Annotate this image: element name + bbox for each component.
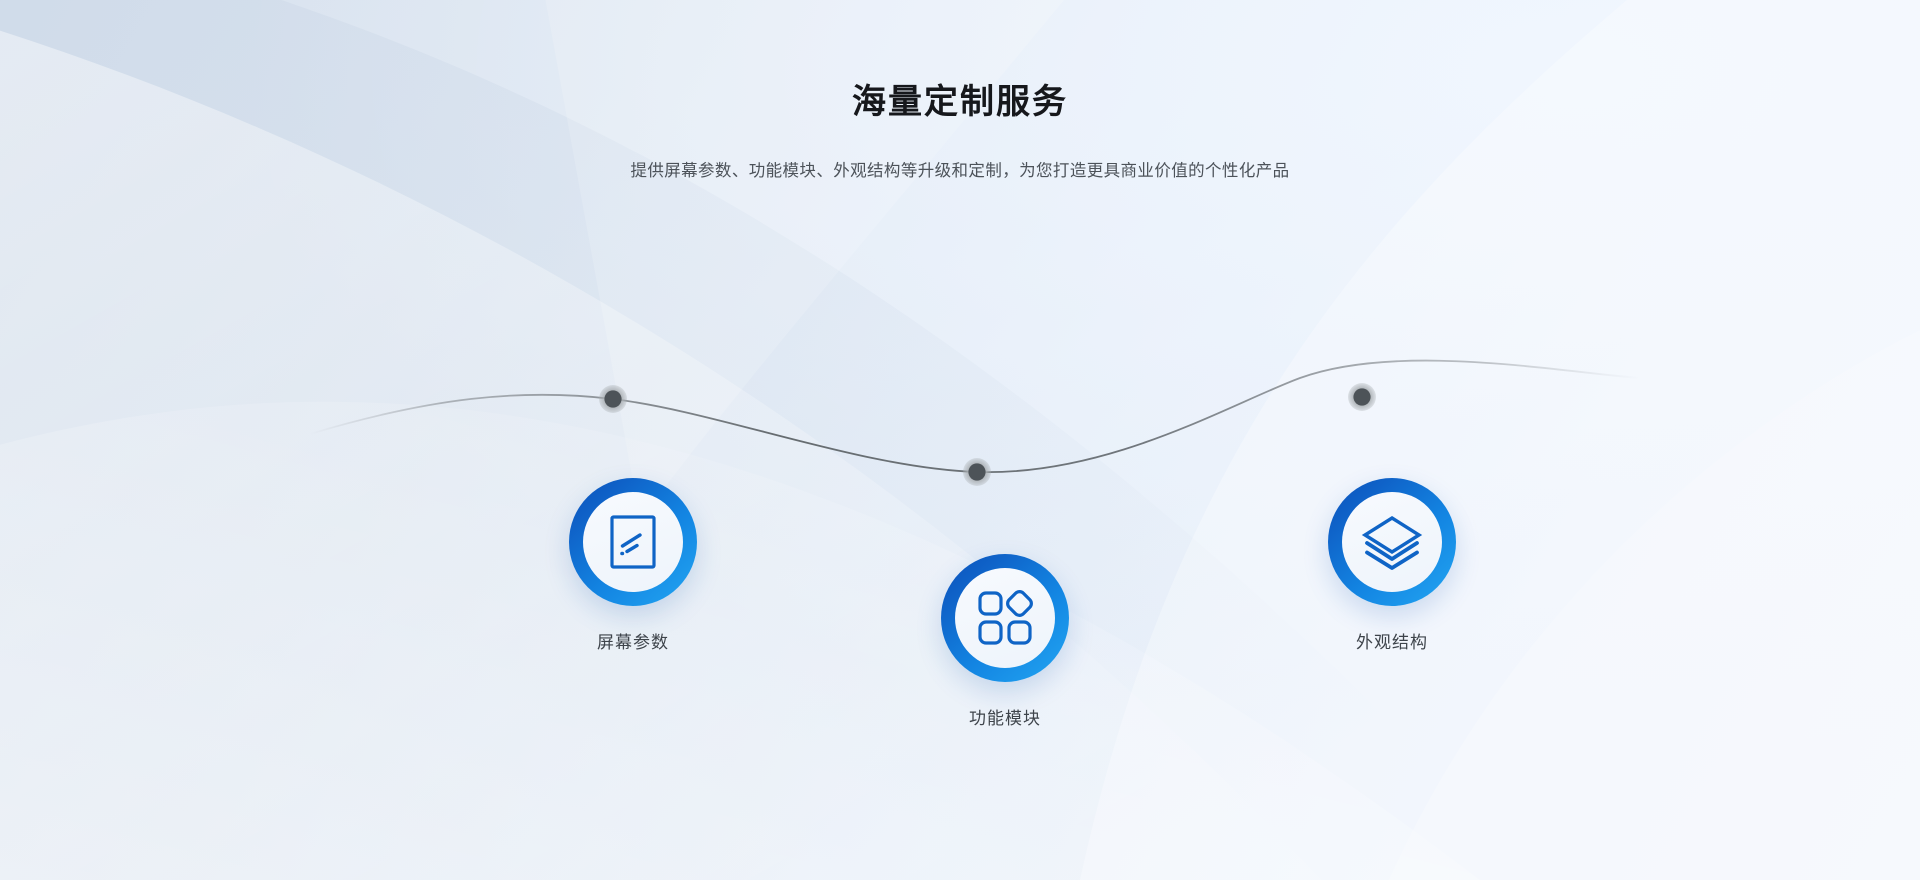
feature-node-label: 功能模块 [875, 704, 1135, 729]
layers-stack-icon [1328, 478, 1456, 606]
feature-node-label: 屏幕参数 [503, 628, 763, 653]
function-modules-icon [941, 554, 1069, 682]
feature-node-label: 外观结构 [1262, 628, 1522, 653]
icon-badge[interactable] [1328, 478, 1456, 606]
feature-node-function-modules[interactable]: 功能模块 [875, 554, 1135, 729]
icon-badge[interactable] [569, 478, 697, 606]
feature-node-list: 屏幕参数 功能模块 [0, 0, 1920, 880]
screen-parameters-icon [569, 478, 697, 606]
icon-badge[interactable] [941, 554, 1069, 682]
custom-service-banner: 海量定制服务 提供屏幕参数、功能模块、外观结构等升级和定制，为您打造更具商业价值… [0, 0, 1920, 880]
feature-node-appearance-structure[interactable]: 外观结构 [1262, 478, 1522, 653]
feature-node-screen-parameters[interactable]: 屏幕参数 [503, 478, 763, 653]
